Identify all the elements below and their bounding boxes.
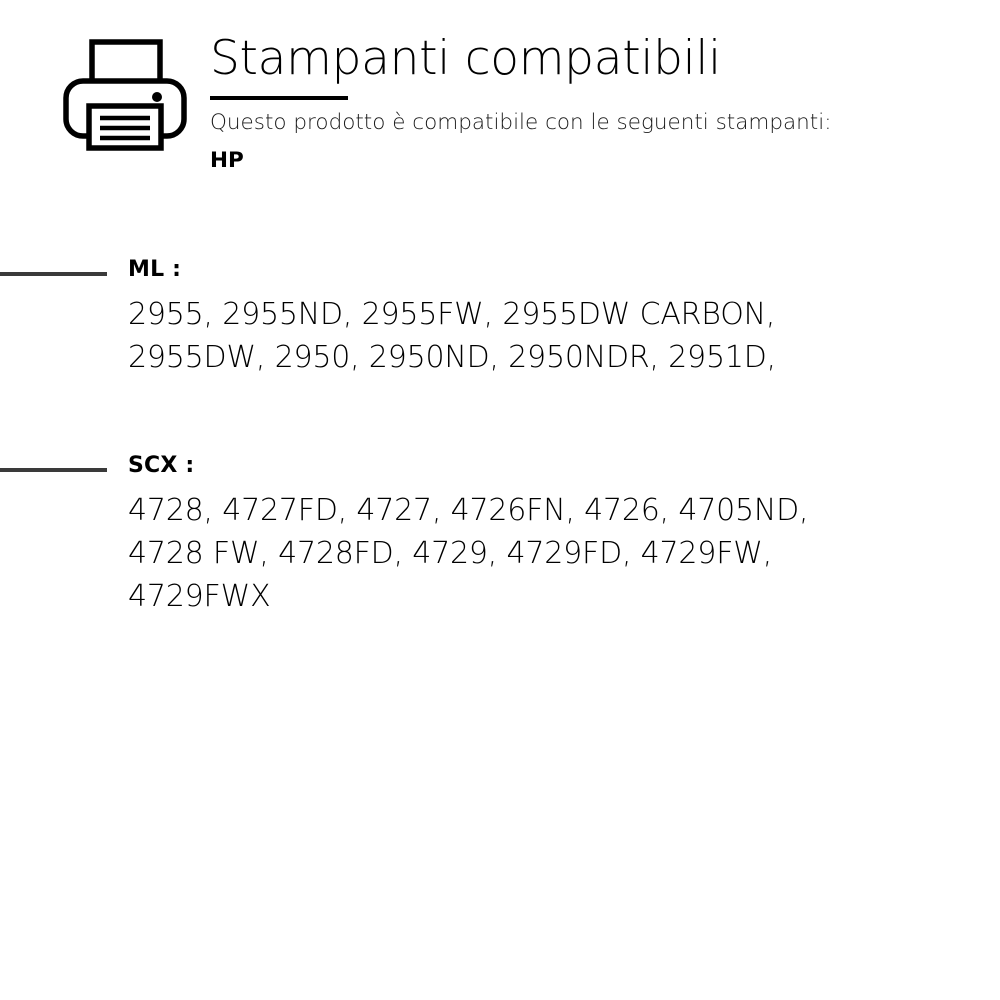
model-line: 4729FWX bbox=[128, 575, 988, 618]
model-line: 4728 FW, 4728FD, 4729, 4729FD, 4729FW, bbox=[128, 532, 988, 575]
model-line: 4728, 4727FD, 4727, 4726FN, 4726, 4705ND… bbox=[128, 489, 988, 532]
printer-icon bbox=[62, 36, 188, 152]
page-title: Stampanti compatibili bbox=[210, 30, 980, 88]
page-subtitle: Questo prodotto è compatibile con le seg… bbox=[210, 108, 980, 138]
brand-label: HP bbox=[210, 146, 980, 176]
title-underline-rule bbox=[210, 96, 348, 100]
page-header: Stampanti compatibili Questo prodotto è … bbox=[0, 0, 1000, 210]
compatible-printers-page: Stampanti compatibili Questo prodotto è … bbox=[0, 0, 1000, 1000]
model-line: 2955DW, 2950, 2950ND, 2950NDR, 2951D, bbox=[128, 336, 988, 379]
series-body: SCX : 4728, 4727FD, 4727, 4726FN, 4726, … bbox=[128, 451, 988, 618]
header-text-block: Stampanti compatibili Questo prodotto è … bbox=[210, 30, 980, 176]
model-list-ml: 2955, 2955ND, 2955FW, 2955DW CARBON, 295… bbox=[128, 293, 988, 379]
model-list-scx: 4728, 4727FD, 4727, 4726FN, 4726, 4705ND… bbox=[128, 489, 988, 618]
series-label-ml: ML : bbox=[128, 255, 988, 285]
series-rule bbox=[0, 272, 107, 276]
model-line: 2955, 2955ND, 2955FW, 2955DW CARBON, bbox=[128, 293, 988, 336]
series-body: ML : 2955, 2955ND, 2955FW, 2955DW CARBON… bbox=[128, 255, 988, 379]
series-label-scx: SCX : bbox=[128, 451, 988, 481]
series-rule bbox=[0, 468, 107, 472]
